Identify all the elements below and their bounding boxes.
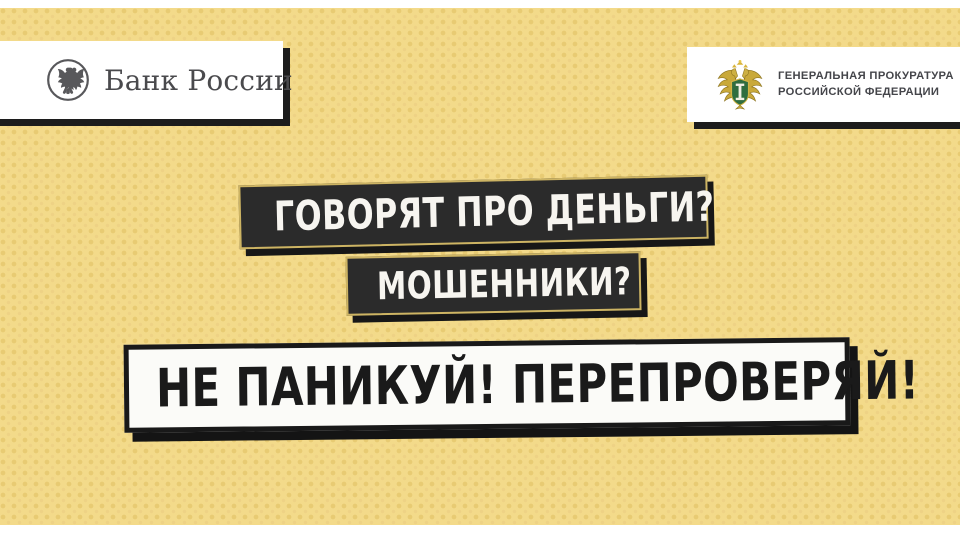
headline-text-2: МОШЕННИКИ? xyxy=(377,259,632,308)
prosecutor-eagle-emblem-icon xyxy=(714,60,766,110)
headline-banner-3: НЕ ПАНИКУЙ! ПЕРЕПРОВЕРЯЙ! xyxy=(124,337,851,433)
poster-canvas: Банк России xyxy=(0,0,960,540)
letterbox-top xyxy=(0,0,960,8)
bank-of-russia-title: Банк России xyxy=(104,64,293,97)
headline-text-1: ГОВОРЯТ ПРО ДЕНЬГИ? xyxy=(274,183,715,241)
double-headed-eagle-circle-icon xyxy=(46,58,90,102)
headline-banner-2: МОШЕННИКИ? xyxy=(345,251,641,316)
prosecutor-general-logo-plate: ГЕНЕРАЛЬНАЯ ПРОКУРАТУРА РОССИЙСКОЙ ФЕДЕР… xyxy=(687,47,960,122)
bank-of-russia-logo-plate: Банк России xyxy=(0,41,283,119)
prosecutor-general-title: ГЕНЕРАЛЬНАЯ ПРОКУРАТУРА РОССИЙСКОЙ ФЕДЕР… xyxy=(778,69,954,101)
letterbox-bottom xyxy=(0,525,960,540)
headline-text-3: НЕ ПАНИКУЙ! ПЕРЕПРОВЕРЯЙ! xyxy=(156,350,920,419)
headline-banner-1: ГОВОРЯТ ПРО ДЕНЬГИ? xyxy=(238,175,708,250)
prosecutor-general-title-line-1: ГЕНЕРАЛЬНАЯ ПРОКУРАТУРА xyxy=(778,69,954,85)
prosecutor-general-title-line-2: РОССИЙСКОЙ ФЕДЕРАЦИИ xyxy=(778,85,954,101)
